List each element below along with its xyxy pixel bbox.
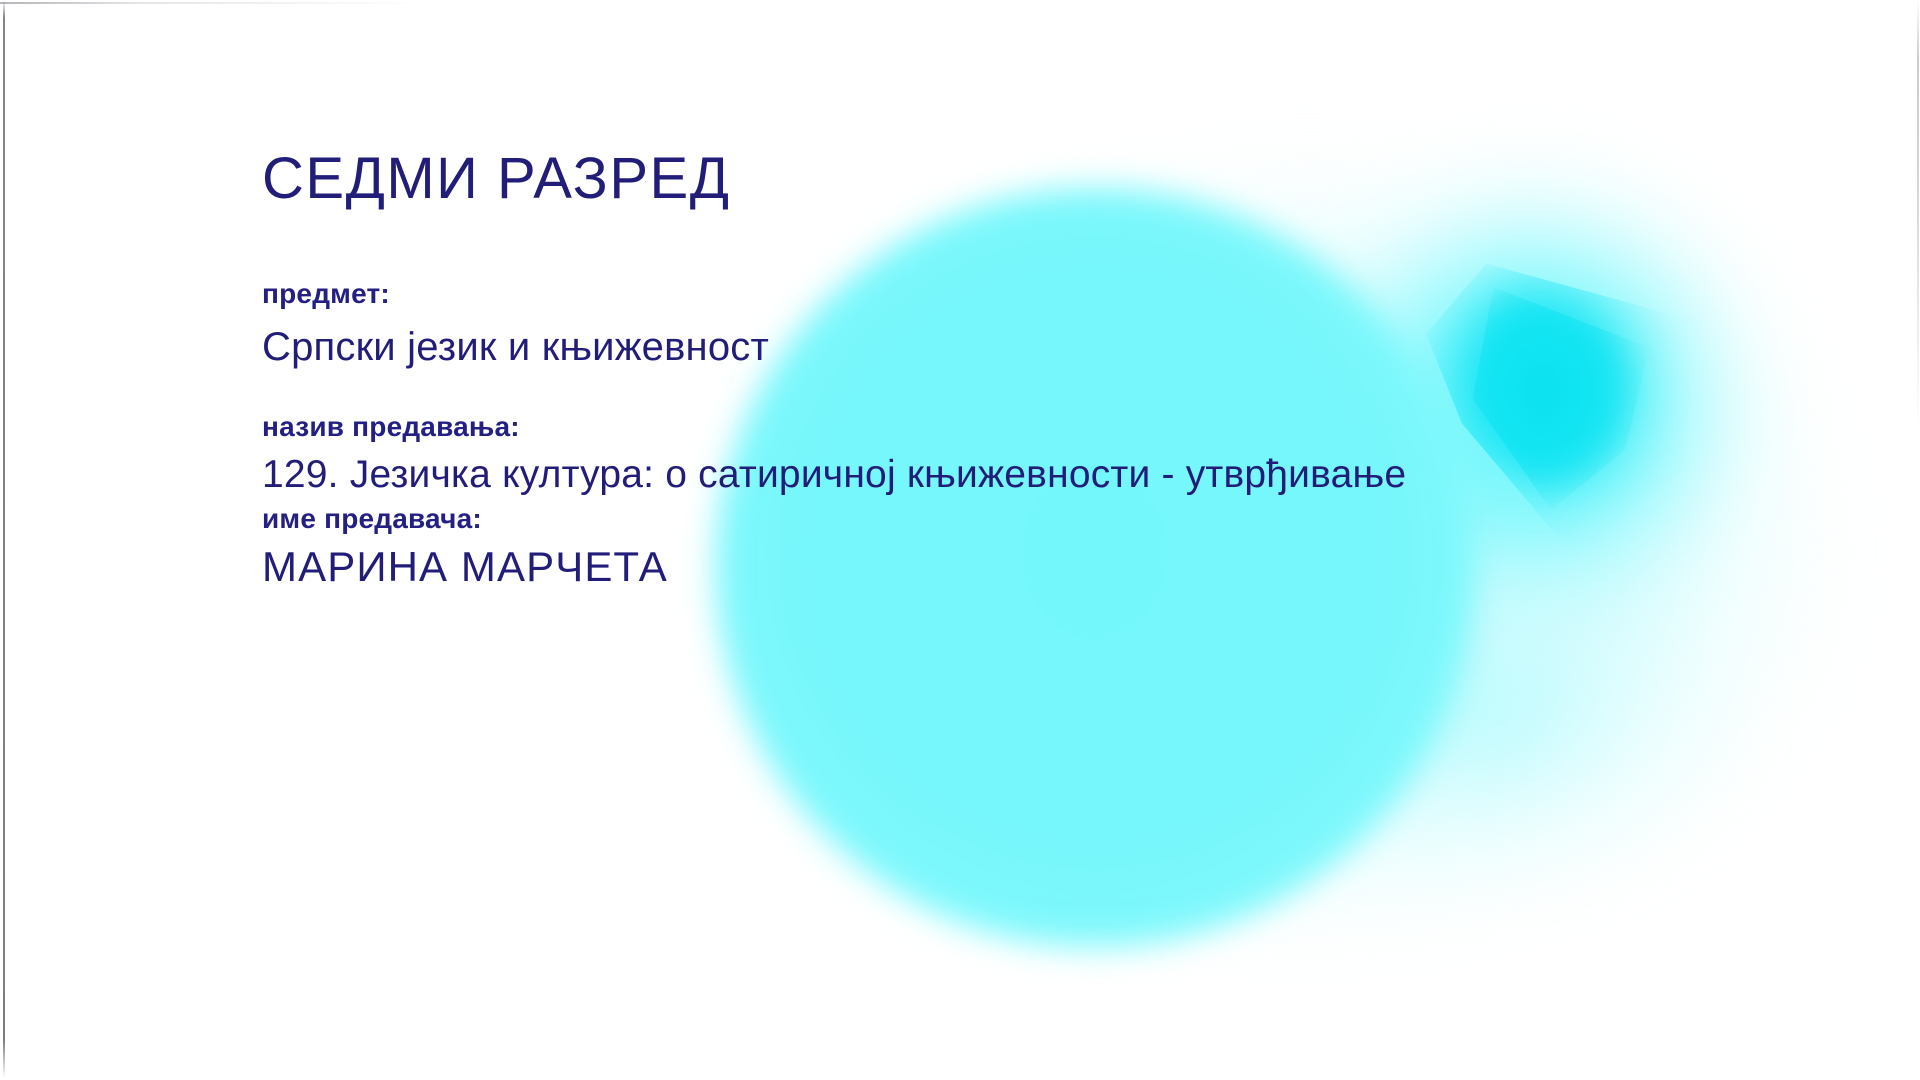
slide-text-content: СЕДМИ РАЗРЕД предмет: Српски језик и књи… [262, 150, 1622, 592]
lecture-field: назив предавања: 129. Језичка култура: о… [262, 411, 1622, 499]
frame-edge-right [1917, 0, 1919, 1080]
subject-value: Српски језик и књижевност [262, 324, 1622, 370]
spacer-subject [262, 310, 1622, 324]
spacer-before-lecture [262, 371, 1622, 411]
teacher-field: име предавача: МАРИНА МАРЧЕТА [262, 503, 1622, 592]
cyan-blob-tail [1240, 560, 1880, 980]
grade-title: СЕДМИ РАЗРЕД [262, 150, 1622, 208]
spacer-after-title [262, 208, 1622, 278]
spacer-lecture-label [262, 443, 1622, 451]
lecture-value: 129. Језичка култура: о сатиричној књиже… [262, 451, 1572, 499]
teacher-value: МАРИНА МАРЧЕТА [262, 543, 1622, 592]
frame-edge-top [0, 2, 1920, 4]
subject-field: предмет: Српски језик и књижевност [262, 278, 1622, 371]
subject-label: предмет: [262, 278, 1622, 310]
frame-edge-left [3, 0, 5, 1080]
lesson-title-slide: СЕДМИ РАЗРЕД предмет: Српски језик и књи… [0, 0, 1920, 1080]
spacer-teacher-label [262, 535, 1622, 543]
lecture-label: назив предавања: [262, 411, 1622, 443]
teacher-label: име предавача: [262, 503, 1622, 535]
